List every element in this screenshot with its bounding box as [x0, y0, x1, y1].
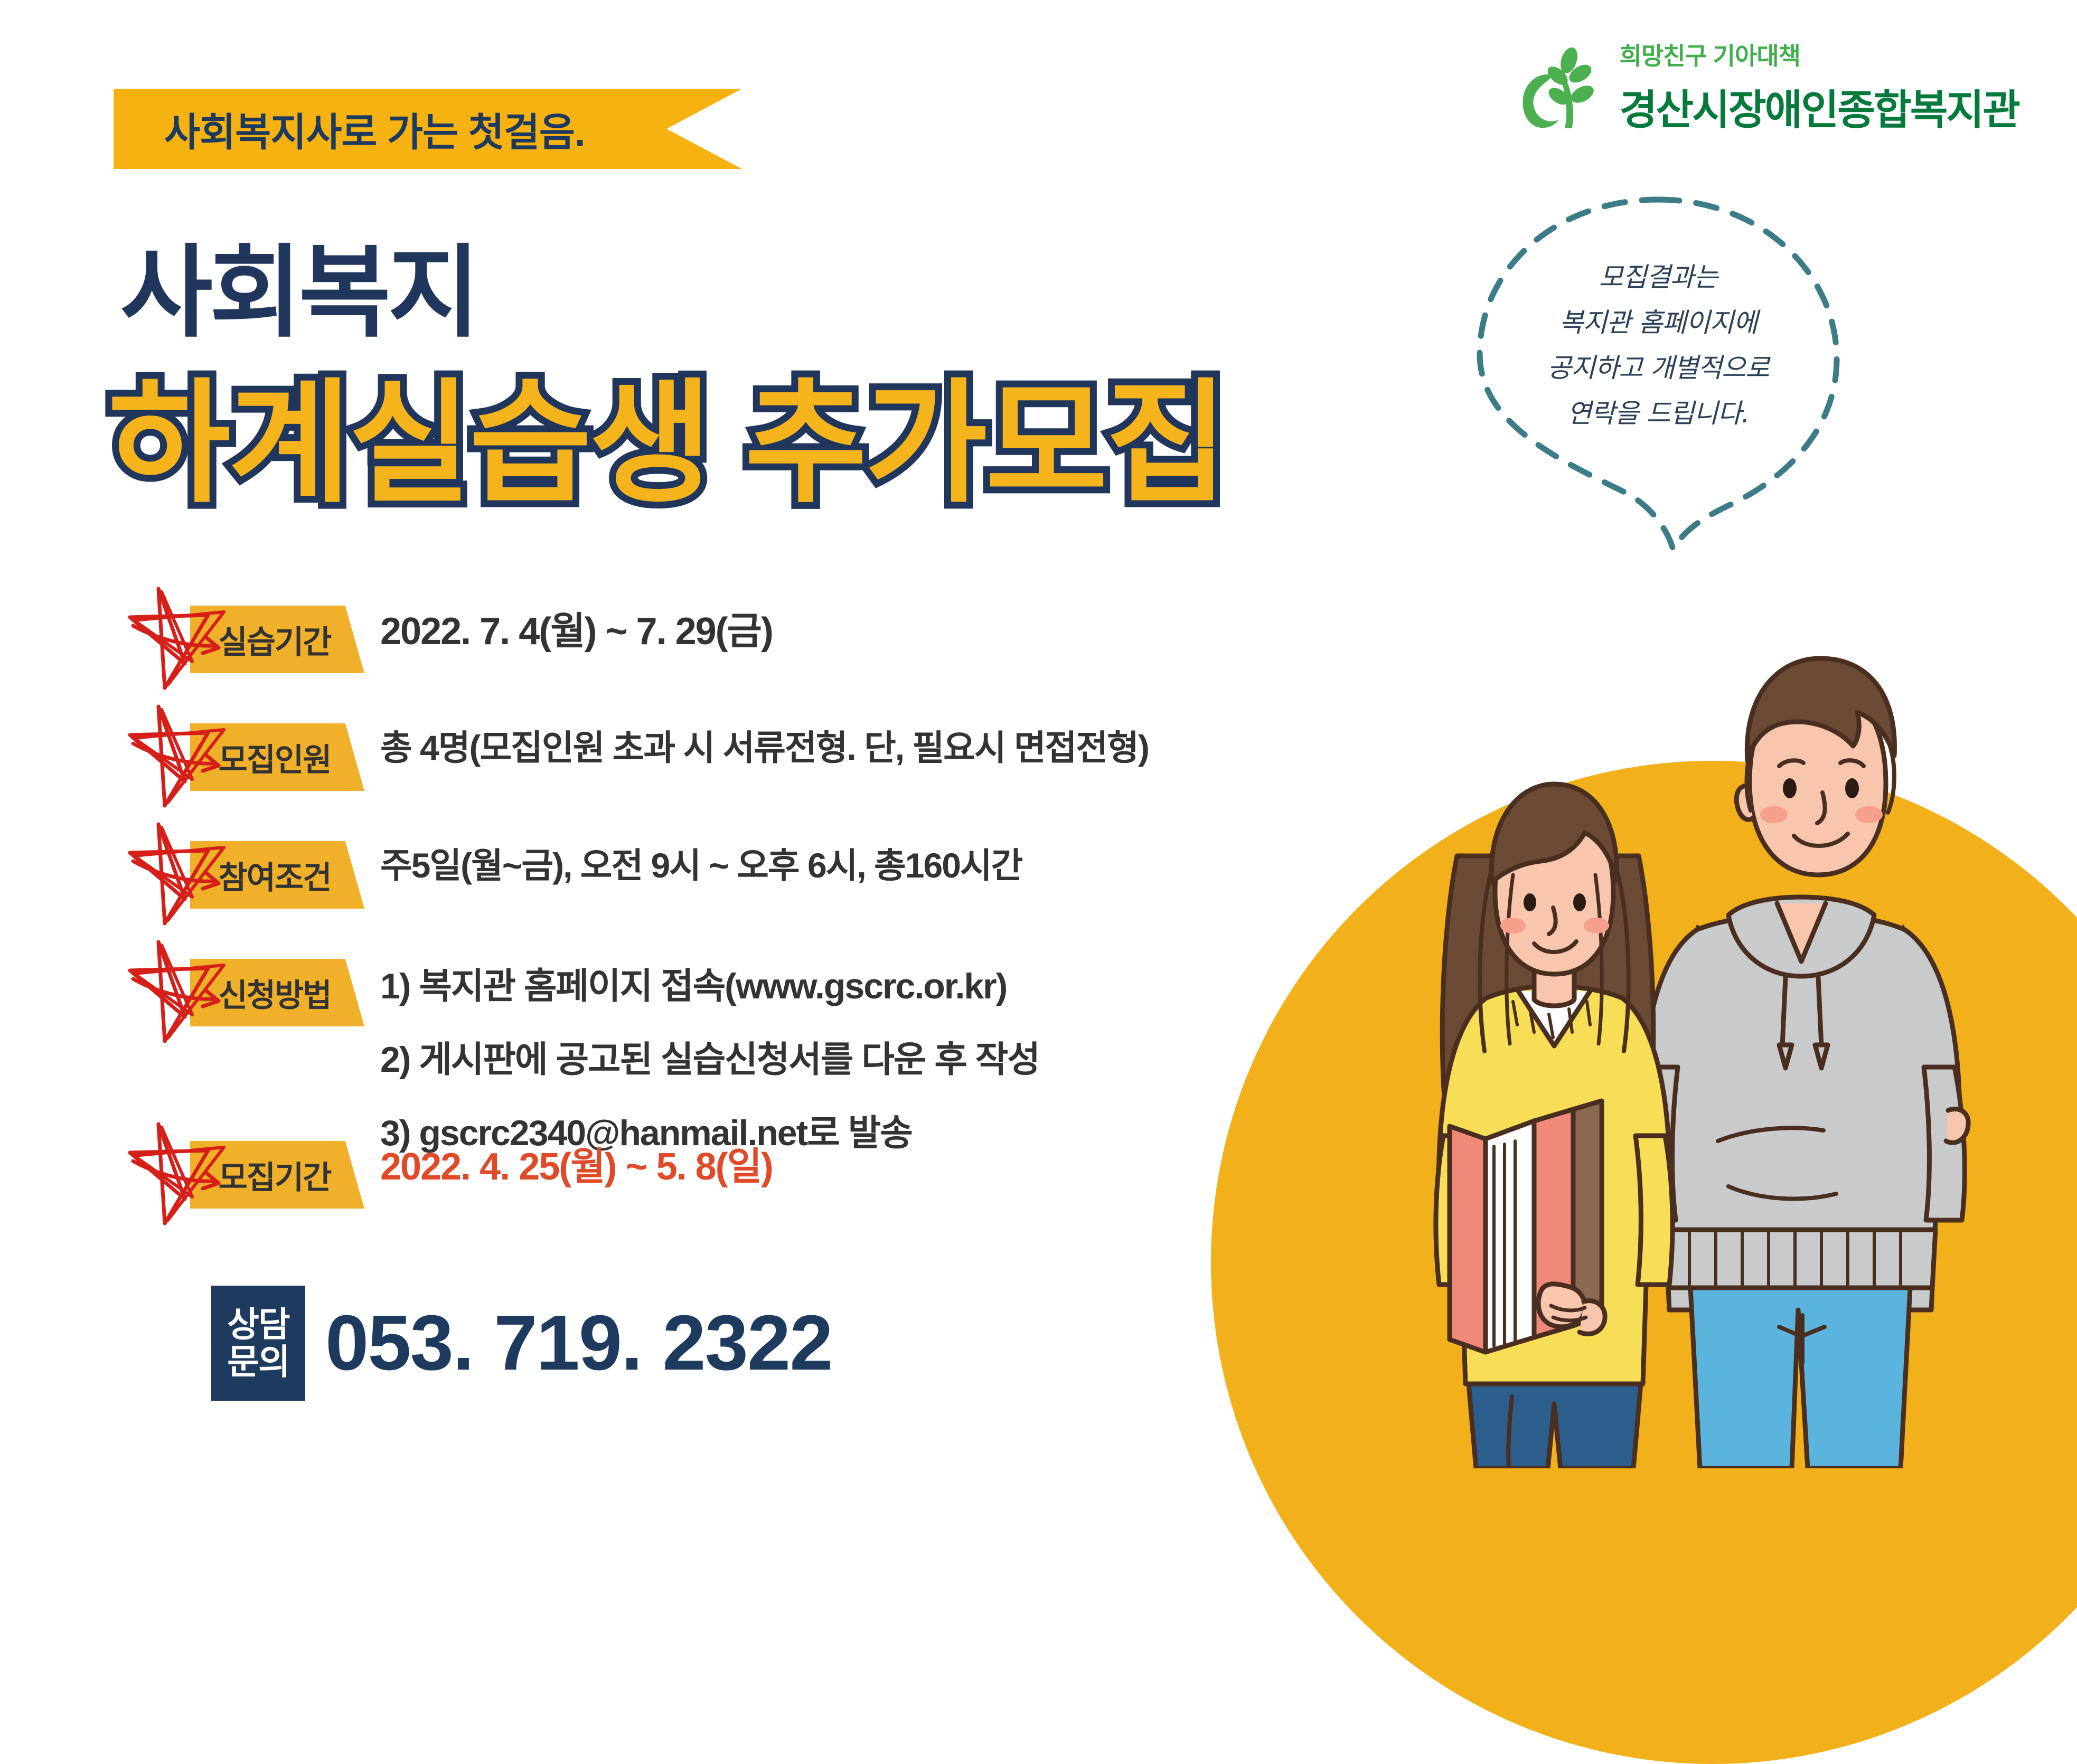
info-row-practice-period: 실습기간 2022. 7. 4(월) ~ 7. 29(금) — [132, 594, 1463, 686]
organization-logo: 희망친구 기아대책 경산시장애인종합복지관 — [1514, 37, 2019, 139]
bubble-line-3: 공지하고 개별적으로 — [1458, 345, 1859, 391]
info-tag-label: 참여조건 — [215, 852, 340, 898]
info-row-headcount: 모집인원 총 4명(모집인원 초과 시 서류전형. 단, 필요시 면접전형) — [132, 712, 1463, 804]
info-tag-label: 모집기간 — [215, 1152, 340, 1198]
header-ribbon-text: 사회복지사로 가는 첫걸음. — [114, 101, 585, 157]
logo-subtitle: 희망친구 기아대책 — [1620, 37, 2019, 72]
header-ribbon: 사회복지사로 가는 첫걸음. — [114, 89, 742, 169]
info-row-value: 2022. 4. 25(월) ~ 5. 8(일) — [380, 1129, 1463, 1187]
apply-step: 1) 복지관 홈페이지 접속(www.gscrc.or.kr) — [380, 957, 1463, 1009]
tag-wrap: 신청방법 — [132, 947, 380, 1040]
logo-title: 경산시장애인종합복지관 — [1620, 77, 2019, 136]
info-tag: 실습기간 — [190, 606, 364, 673]
info-tag: 참여조건 — [190, 841, 364, 909]
sprout-ribbon-logo-mark — [1514, 47, 1606, 139]
page-title-line2: 하계실습생 추가모집 — [108, 335, 1226, 528]
info-row-recruit-period: 모집기간 2022. 4. 25(월) ~ 5. 8(일) — [132, 1129, 1463, 1222]
notice-speech-bubble: 모집결과는 복지관 홈페이지에 공지하고 개별적으로 연락을 드립니다. — [1458, 185, 1859, 554]
info-row-value: 2022. 7. 4(월) ~ 7. 29(금) — [380, 594, 1463, 652]
info-list: 실습기간 2022. 7. 4(월) ~ 7. 29(금) 모집인원 총 4명(… — [132, 594, 1463, 1247]
contact-badge: 상담 문의 — [211, 1286, 305, 1401]
info-tag-label: 실습기간 — [215, 617, 340, 663]
tag-wrap: 모집인원 — [132, 712, 380, 804]
info-tag: 신청방법 — [190, 959, 364, 1026]
info-row-value: 총 4명(모집인원 초과 시 서류전형. 단, 필요시 면접전형) — [380, 712, 1463, 766]
bubble-line-1: 모집결과는 — [1458, 254, 1859, 300]
speech-bubble-text: 모집결과는 복지관 홈페이지에 공지하고 개별적으로 연락을 드립니다. — [1458, 254, 1859, 436]
apply-step: 2) 게시판에 공고된 실습신청서를 다운 후 작성 — [380, 1030, 1463, 1082]
contact-badge-line1: 상담 — [227, 1306, 289, 1343]
info-tag: 모집인원 — [190, 723, 364, 791]
info-row-how-to-apply: 신청방법 1) 복지관 홈페이지 접속(www.gscrc.or.kr) 2) … — [132, 947, 1463, 1156]
bubble-line-2: 복지관 홈페이지에 — [1458, 300, 1859, 345]
contact-badge-line2: 문의 — [227, 1343, 289, 1381]
tag-wrap: 참여조건 — [132, 829, 380, 922]
page-title-line1: 사회복지 — [120, 211, 477, 356]
contact-phone-number: 053. 719. 2322 — [325, 1298, 832, 1388]
info-row-conditions: 참여조건 주5일(월~금), 오전 9시 ~ 오후 6시, 총160시간 — [132, 829, 1463, 922]
info-tag-label: 모집인원 — [215, 734, 340, 780]
bubble-line-4: 연락을 드립니다. — [1458, 391, 1859, 436]
info-tag: 모집기간 — [190, 1141, 364, 1209]
apply-steps-list: 1) 복지관 홈페이지 접속(www.gscrc.or.kr) 2) 게시판에 … — [380, 947, 1463, 1156]
tag-wrap: 모집기간 — [132, 1129, 380, 1222]
tag-wrap: 실습기간 — [132, 594, 380, 686]
info-tag-label: 신청방법 — [215, 970, 340, 1016]
info-row-value: 주5일(월~금), 오전 9시 ~ 오후 6시, 총160시간 — [380, 829, 1463, 884]
contact-block: 상담 문의 053. 719. 2322 — [211, 1286, 832, 1401]
